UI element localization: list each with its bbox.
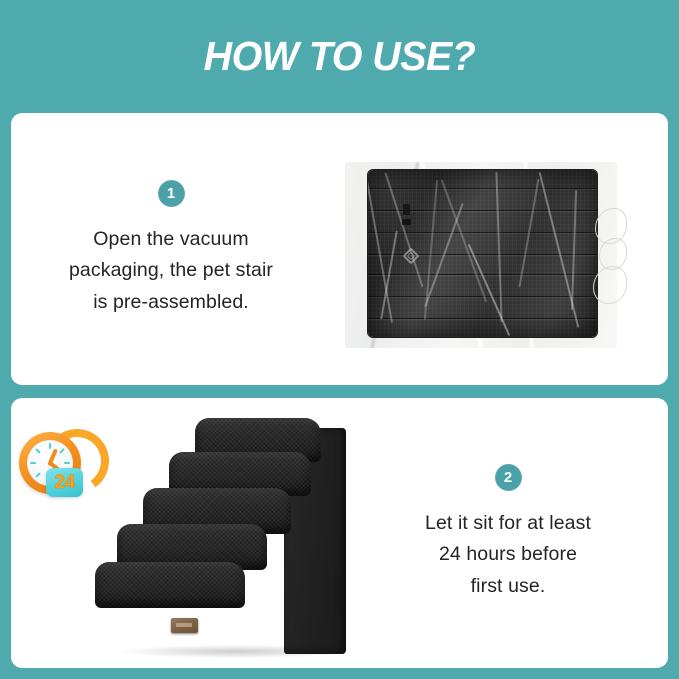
step-number-badge-1: 1 [158, 180, 185, 207]
hours-badge-label: 24 [54, 473, 74, 492]
step-2-text-column: 2 Let it sit for at least 24 hours befor… [348, 464, 668, 603]
step-card-2: 24 2 Let it sit for at least 24 hours be… [11, 398, 668, 668]
page-header: HOW TO USE? [0, 0, 679, 113]
step-1-text-column: 1 Open the vacuum packaging, the pet sta… [11, 180, 331, 319]
plastic-crease [571, 190, 577, 310]
clock-tick [30, 462, 36, 464]
clock-tick [35, 448, 41, 454]
plastic-crease [518, 179, 539, 288]
plastic-crease [495, 172, 502, 322]
vacuum-package-image [331, 113, 668, 385]
page-title: HOW TO USE? [204, 36, 476, 77]
step-2-description: Let it sit for at least 24 hours before … [425, 508, 591, 603]
how-to-use-infographic: HOW TO USE? 1 Open the vacuum packaging,… [0, 0, 679, 679]
plastic-crease [368, 175, 393, 323]
step-2-line-1: Let it sit for at least [425, 508, 591, 540]
hours-badge: 24 [46, 468, 83, 497]
step-number-badge-2: 2 [495, 464, 522, 491]
24-hour-clock-icon: 24 [15, 426, 95, 506]
foam-seam [368, 232, 597, 233]
plastic-seal-tail [593, 204, 639, 312]
pet-stairs [95, 410, 345, 654]
label-mark-dark [403, 204, 410, 215]
clock-tick [64, 462, 70, 464]
compressed-foam-block [368, 170, 597, 337]
step-1-description: Open the vacuum packaging, the pet stair… [69, 224, 273, 319]
brand-leather-tag [171, 618, 198, 633]
clock-tick [49, 443, 51, 449]
plastic-crease [468, 244, 510, 336]
plastic-wrap [345, 162, 617, 348]
step-2-line-3: first use. [425, 571, 591, 603]
recycle-icon [405, 250, 416, 261]
foam-seam [368, 188, 597, 189]
clock-center-pin [48, 461, 53, 466]
step-1-line-2: packaging, the pet stair [69, 255, 273, 287]
stairs-ground-shadow [121, 645, 351, 658]
clock-tick [35, 472, 41, 478]
pet-stairs-image: 24 [11, 398, 348, 668]
stair-step [95, 562, 245, 608]
label-mark-dark-2 [402, 219, 411, 225]
foam-seam [368, 318, 597, 319]
step-1-line-1: Open the vacuum [69, 224, 273, 256]
step-2-line-2: 24 hours before [425, 539, 591, 571]
clock-tick [59, 448, 65, 454]
plastic-fold [593, 266, 627, 304]
step-card-1: 1 Open the vacuum packaging, the pet sta… [11, 113, 668, 385]
step-1-line-3: is pre-assembled. [69, 287, 273, 319]
